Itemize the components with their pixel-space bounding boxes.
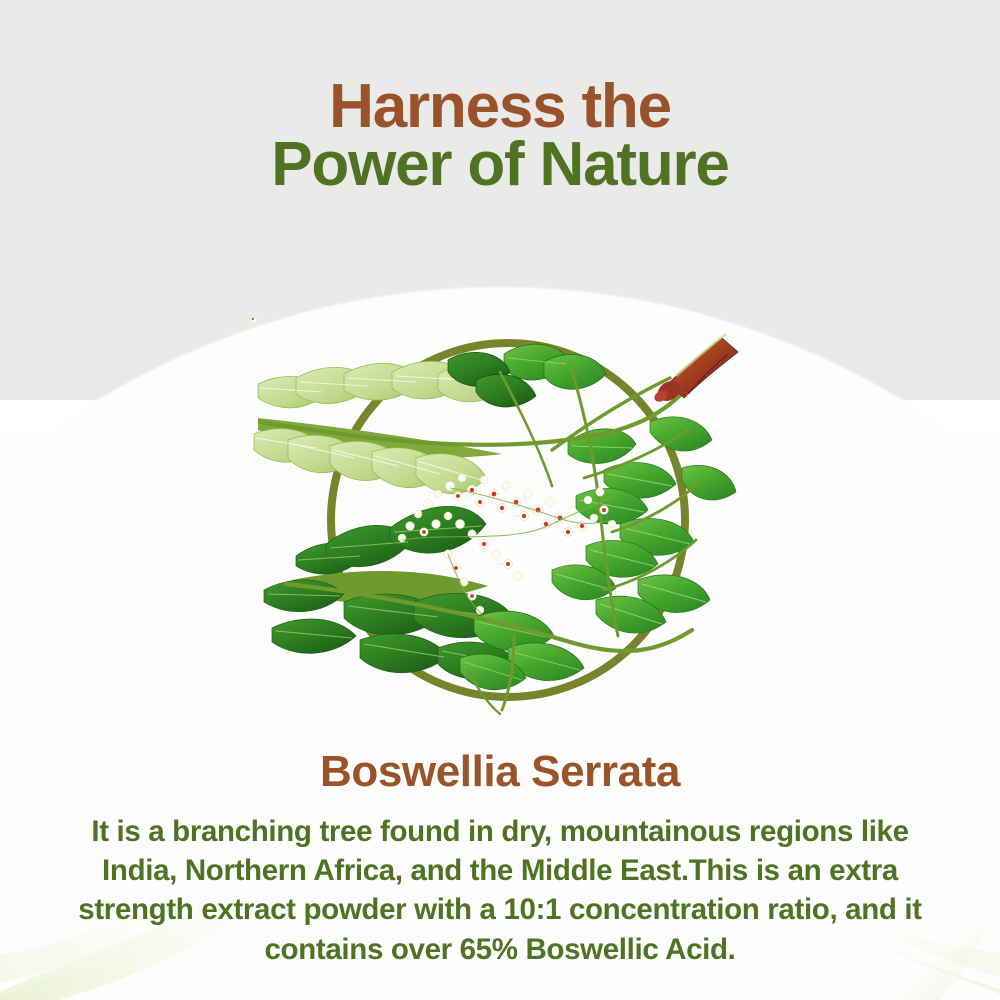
- bark-stem: [652, 334, 738, 405]
- product-title: Boswellia Serrata: [0, 747, 1000, 797]
- product-infographic-page: Harness the Power of Nature: [0, 0, 1000, 1000]
- product-description: It is a branching tree found in dry, mou…: [55, 812, 945, 969]
- headline-line-2: Power of Nature: [0, 136, 1000, 194]
- headline-line-1: Harness the: [0, 78, 1000, 136]
- leaf-group-lower-left: [264, 506, 518, 679]
- boswellia-branch-illustration: [252, 318, 762, 718]
- page-headline: Harness the Power of Nature: [0, 78, 1000, 193]
